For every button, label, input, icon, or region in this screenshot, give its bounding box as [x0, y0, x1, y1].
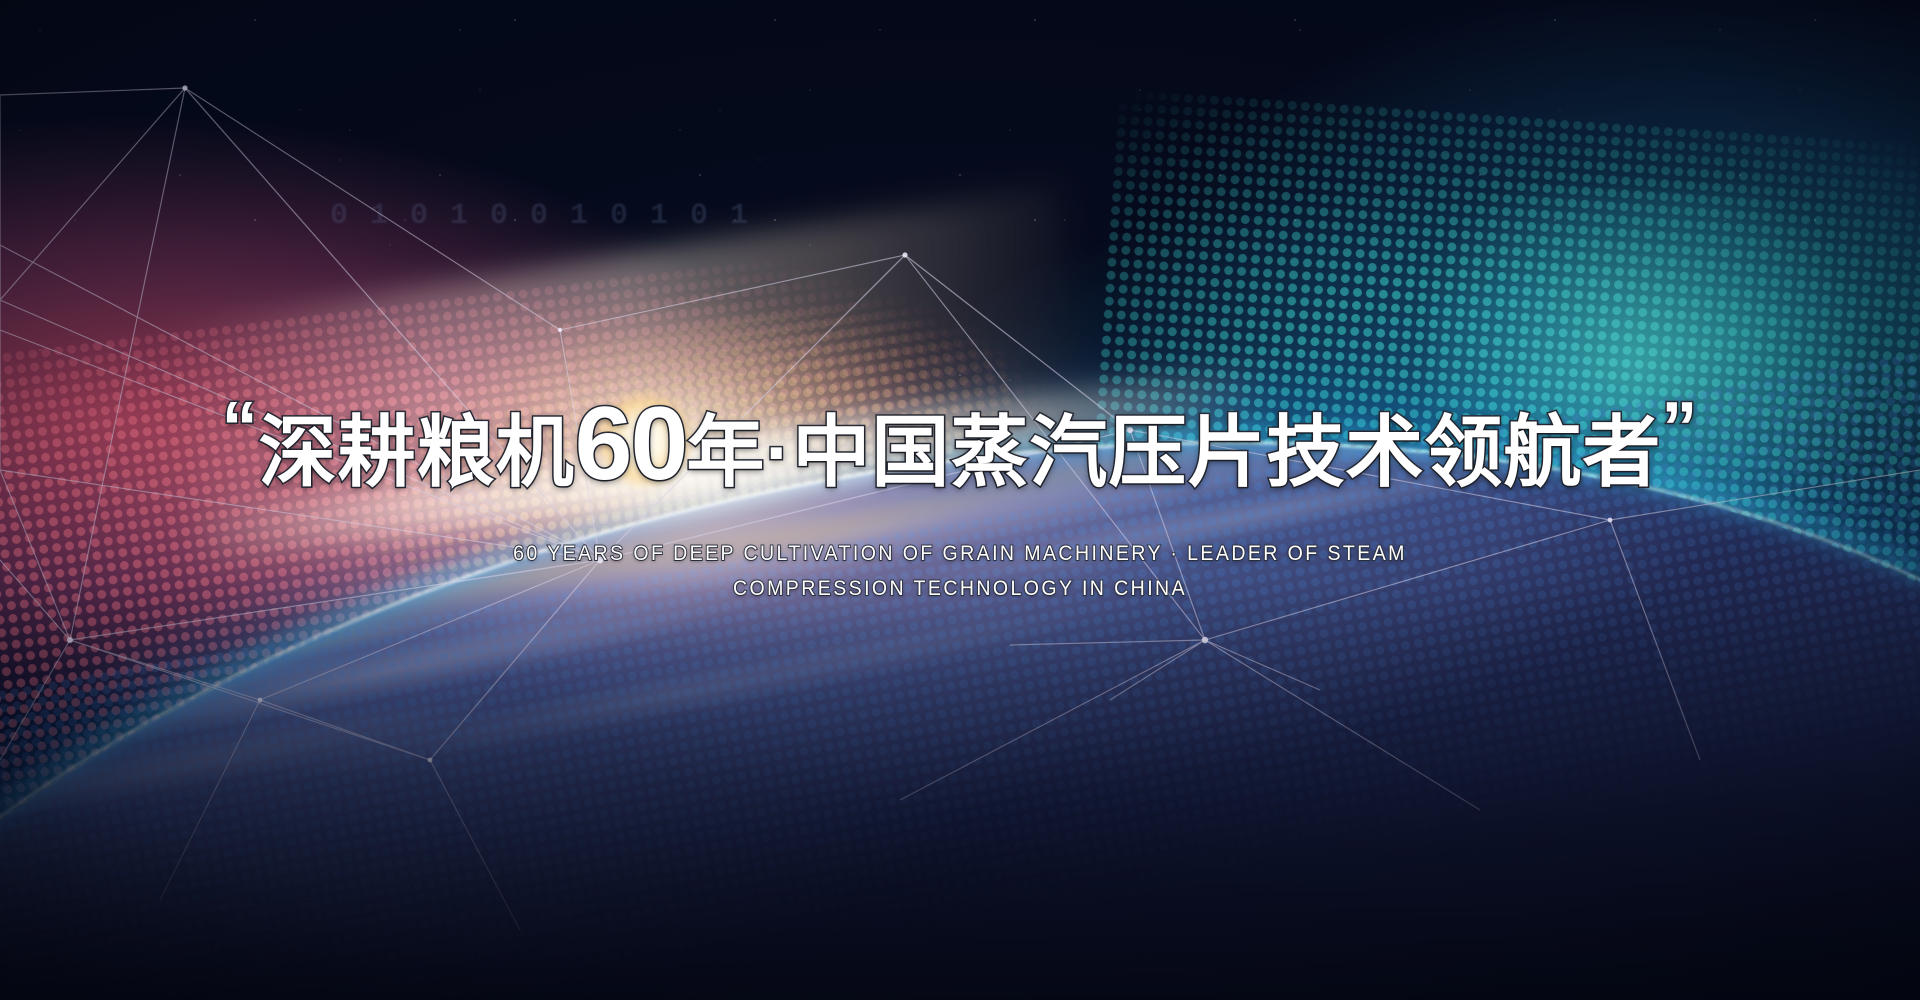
open-quote: “: [222, 388, 259, 468]
headline-number: 60: [575, 386, 687, 502]
binary-glyph-row: 0 1 0 1 0 0 1 0 1 0 1: [330, 196, 1160, 236]
subtitle-line-1: 60 YEARS OF DEEP CULTIVATION OF GRAIN MA…: [67, 542, 1853, 566]
headline-part-1: 深耕粮机: [259, 408, 575, 496]
close-quote: ”: [1661, 388, 1698, 468]
page-title: “深耕粮机60年·中国蒸汽压片技术领航者”: [0, 392, 1920, 496]
subtitle-line-2: COMPRESSION TECHNOLOGY IN CHINA: [67, 577, 1853, 601]
hero-banner: 0 1 0 1 0 0 1 0 1 0 1: [0, 0, 1920, 1000]
headline-part-2: 年·中国蒸汽压片技术领航者: [686, 408, 1661, 496]
banner-copy: “深耕粮机60年·中国蒸汽压片技术领航者” 60 YEARS OF DEEP C…: [0, 392, 1920, 601]
